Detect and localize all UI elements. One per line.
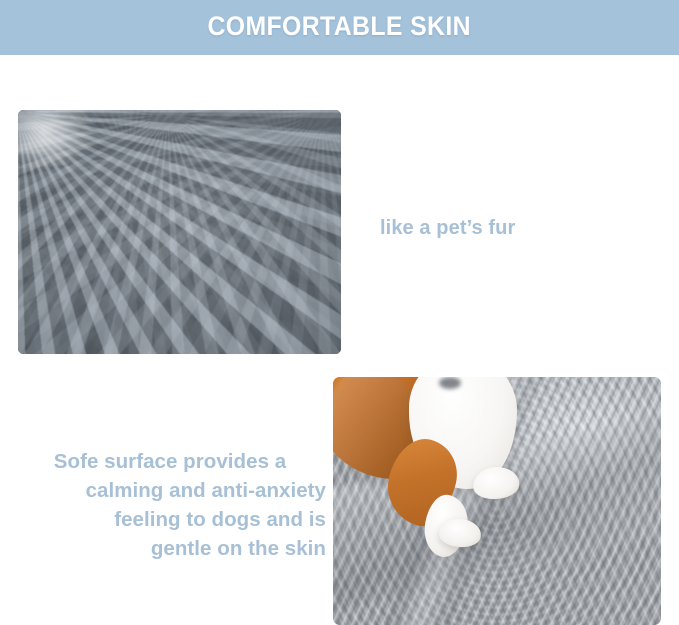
fur-swatch-light-overlay xyxy=(18,110,341,354)
fur-swatch-image xyxy=(18,110,341,354)
header-banner: COMFORTABLE SKIN xyxy=(0,0,679,55)
caption-soft-surface: Sofe surface provides a calming and anti… xyxy=(14,447,326,563)
content-canvas: like a pet’s fur Sofe surface provides a… xyxy=(0,55,679,625)
caption-line: Sofe surface provides a xyxy=(14,447,326,476)
dog-muzzle-shadow xyxy=(439,377,461,389)
page-title: COMFORTABLE SKIN xyxy=(208,11,471,42)
caption-line: gentle on the skin xyxy=(14,534,326,563)
caption-line: feeling to dogs and is xyxy=(14,505,326,534)
caption-line: calming and anti-anxiety xyxy=(14,476,326,505)
caption-like-a-pets-fur: like a pet’s fur xyxy=(380,215,650,242)
dog-on-mat-image xyxy=(333,377,661,625)
